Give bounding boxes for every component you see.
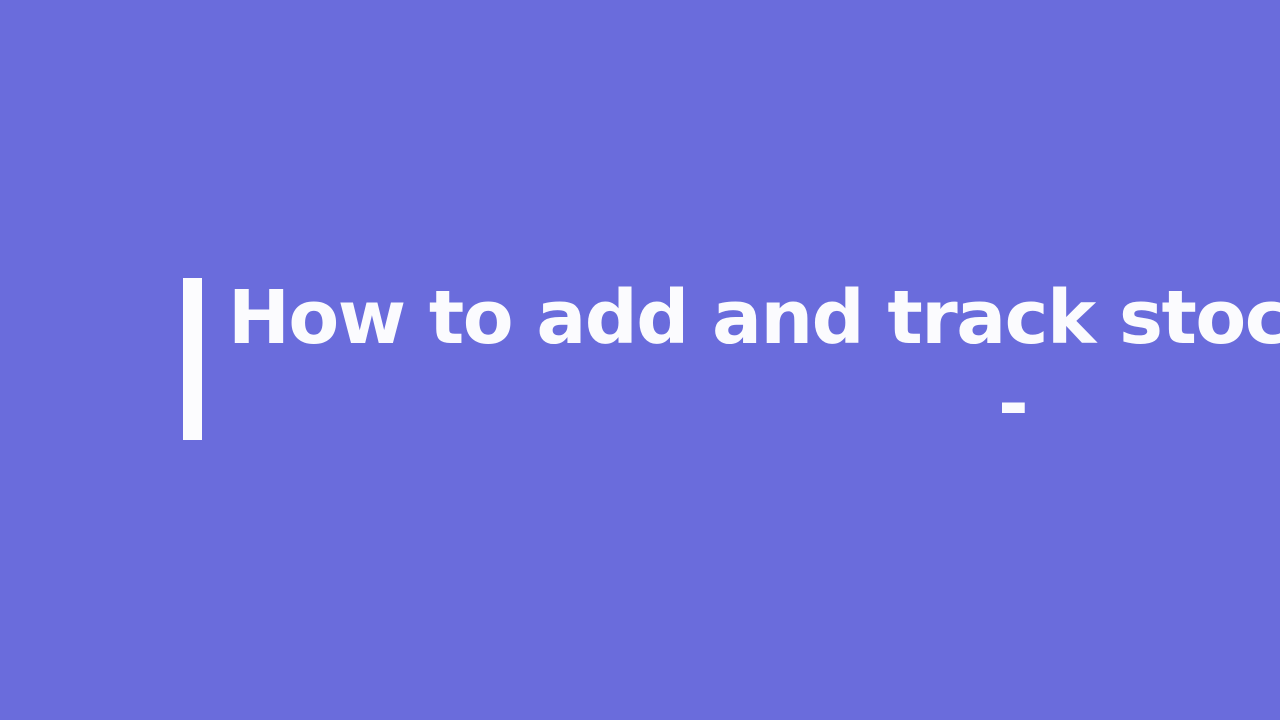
page-title-line-1: How to add and track stoc xyxy=(228,262,1280,374)
title-text-group: How to add and track stoc - xyxy=(228,262,1280,434)
accent-bar xyxy=(183,278,202,440)
title-block: How to add and track stoc - xyxy=(183,262,1280,440)
title-card-slide: How to add and track stoc - xyxy=(0,0,1280,720)
page-title-line-2: - xyxy=(228,374,1280,434)
